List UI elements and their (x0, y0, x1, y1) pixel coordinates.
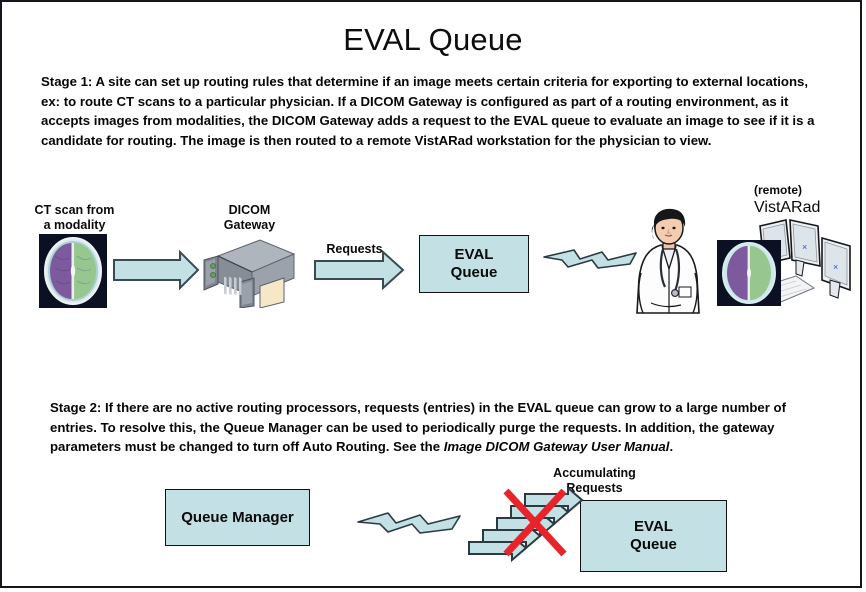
eval-queue-box-bottom[interactable]: EVAL Queue (580, 500, 727, 572)
stage2-text-a: Stage 2: If there are no active routing … (50, 400, 786, 454)
block-arrow-gateway-to-queue (315, 252, 403, 288)
accumulating-label-line1: Accumulating (527, 466, 662, 481)
physician-figure (631, 207, 716, 317)
eval-queue-top-line2: Queue (451, 264, 498, 282)
dicom-gateway-label: DICOM Gateway (187, 203, 312, 233)
accumulating-label-line2: Requests (527, 481, 662, 496)
eval-queue-box-top[interactable]: EVAL Queue (419, 235, 529, 293)
ct-scan-label-line2: a modality (12, 218, 137, 233)
stage2-text-b: . (669, 439, 673, 454)
stack-arrow-1 (469, 536, 526, 560)
stage1-paragraph: Stage 1: A site can set up routing rules… (41, 72, 823, 150)
ct-brain-scan (39, 234, 107, 308)
stage2-manual-title: Image DICOM Gateway User Manual (444, 439, 670, 454)
swoosh-qmgr-to-requests (358, 513, 460, 533)
dicom-gateway-label-line2: Gateway (187, 218, 312, 233)
page-title: EVAL Queue (2, 22, 864, 58)
server-rack-icon (198, 238, 298, 308)
ct-brain-scan-on-monitor (717, 240, 781, 306)
stack-arrow-3 (497, 512, 554, 536)
remote-label: (remote) (754, 183, 864, 198)
vistarad-label: VistARad (754, 200, 864, 215)
stage2-paragraph: Stage 2: If there are no active routing … (50, 398, 820, 457)
diagram-canvas: EVAL Queue Stage 1: A site can set up ro… (0, 0, 862, 588)
requests-label: Requests (307, 242, 402, 257)
dicom-gateway-label-line1: DICOM (187, 203, 312, 218)
queue-manager-label: Queue Manager (181, 509, 294, 527)
stack-arrow-2 (483, 524, 540, 548)
swoosh-queue-to-physician (544, 250, 636, 268)
svg-text:×: × (833, 262, 838, 272)
ct-scan-label: CT scan from a modality (12, 203, 137, 233)
red-x-cancel-mark (506, 491, 564, 554)
eval-queue-bottom-line1: EVAL (630, 518, 677, 536)
eval-queue-bottom-line2: Queue (630, 536, 677, 554)
ct-scan-label-line1: CT scan from (12, 203, 137, 218)
block-arrow-ct-to-gateway (114, 252, 198, 288)
svg-text:×: × (802, 242, 807, 252)
accumulating-request-arrow-stack (469, 488, 582, 560)
eval-queue-top-line1: EVAL (451, 246, 498, 264)
accumulating-requests-label: Accumulating Requests (527, 466, 662, 496)
queue-manager-box[interactable]: Queue Manager (165, 489, 310, 546)
stack-arrow-4 (511, 500, 568, 524)
